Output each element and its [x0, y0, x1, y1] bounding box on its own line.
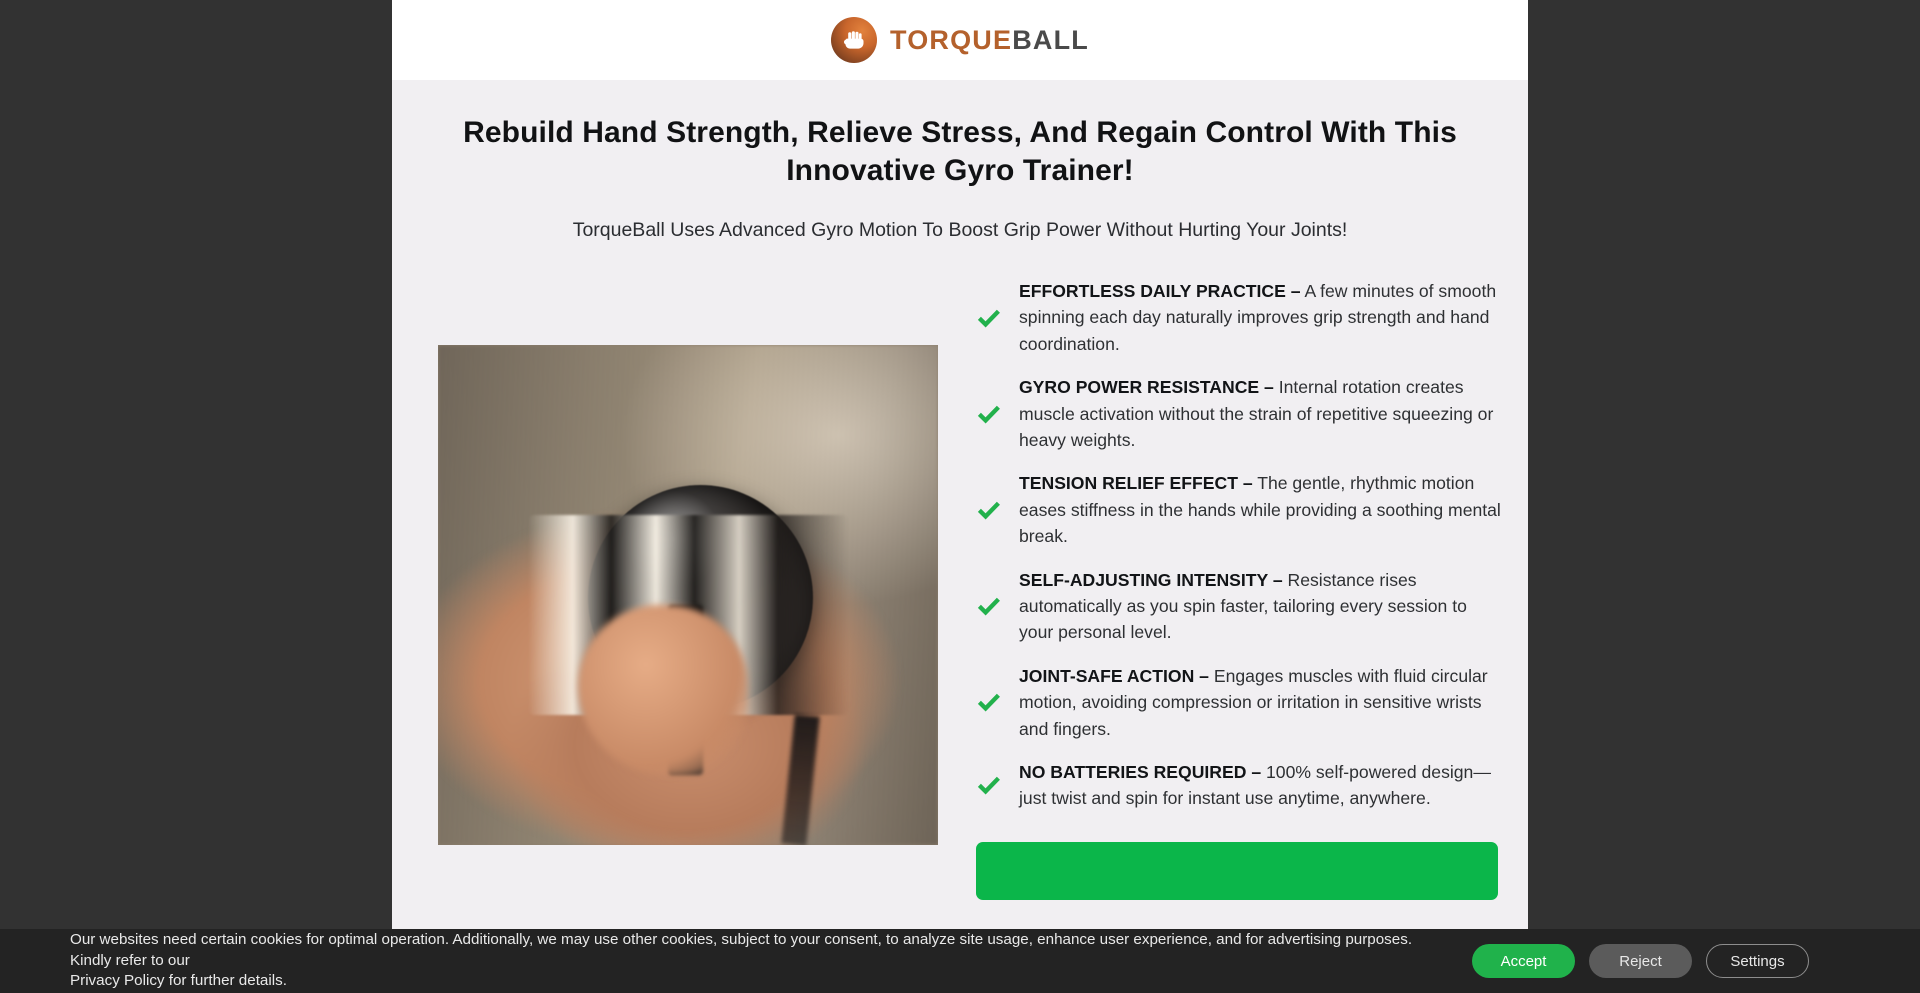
benefit-list: EFFORTLESS DAILY PRACTICE – A few minute…	[976, 278, 1502, 812]
check-icon	[976, 772, 1002, 798]
page-content-column: TORQUEBALL Rebuild Hand Strength, Reliev…	[392, 0, 1528, 993]
benefit-text: SELF-ADJUSTING INTENSITY – Resistance ri…	[1019, 567, 1502, 646]
benefit-text: TENSION RELIEF EFFECT – The gentle, rhyt…	[1019, 470, 1502, 549]
brand-word-primary: TORQUE	[890, 25, 1012, 55]
list-item: JOINT-SAFE ACTION – Engages muscles with…	[976, 663, 1502, 742]
benefit-title: NO BATTERIES REQUIRED –	[1019, 762, 1261, 782]
product-image	[438, 345, 938, 845]
browser-viewport: TORQUEBALL Rebuild Hand Strength, Reliev…	[0, 0, 1920, 993]
page-subtitle: TorqueBall Uses Advanced Gyro Motion To …	[438, 217, 1482, 244]
benefit-text: NO BATTERIES REQUIRED – 100% self-powere…	[1019, 759, 1502, 812]
benefit-title: SELF-ADJUSTING INTENSITY –	[1019, 570, 1283, 590]
page-title: Rebuild Hand Strength, Relieve Stress, A…	[440, 114, 1480, 191]
cookie-text-line-1: Our websites need certain cookies for op…	[70, 931, 1412, 969]
product-media-column	[438, 278, 938, 845]
benefit-text: JOINT-SAFE ACTION – Engages muscles with…	[1019, 663, 1502, 742]
cookie-consent-banner: Our websites need certain cookies for op…	[0, 929, 1920, 993]
cookie-settings-button[interactable]: Settings	[1706, 944, 1809, 978]
benefit-text: GYRO POWER RESISTANCE – Internal rotatio…	[1019, 374, 1502, 453]
benefit-title: GYRO POWER RESISTANCE –	[1019, 377, 1274, 397]
brand-logo[interactable]: TORQUEBALL	[831, 17, 1089, 63]
primary-cta-button[interactable]	[976, 842, 1498, 900]
fist-icon	[831, 17, 877, 63]
check-icon	[976, 305, 1002, 331]
reject-cookies-button[interactable]: Reject	[1589, 944, 1692, 978]
check-icon	[976, 497, 1002, 523]
check-icon	[976, 401, 1002, 427]
benefit-title: JOINT-SAFE ACTION –	[1019, 666, 1209, 686]
list-item: NO BATTERIES REQUIRED – 100% self-powere…	[976, 759, 1502, 812]
benefit-title: EFFORTLESS DAILY PRACTICE –	[1019, 281, 1301, 301]
benefits-column: EFFORTLESS DAILY PRACTICE – A few minute…	[976, 278, 1502, 900]
benefit-text: EFFORTLESS DAILY PRACTICE – A few minute…	[1019, 278, 1502, 357]
list-item: EFFORTLESS DAILY PRACTICE – A few minute…	[976, 278, 1502, 357]
cookie-consent-actions: Accept Reject Settings	[1472, 944, 1809, 978]
cta-row	[976, 842, 1502, 900]
list-item: SELF-ADJUSTING INTENSITY – Resistance ri…	[976, 567, 1502, 646]
brand-wordmark: TORQUEBALL	[890, 27, 1089, 54]
hero-section: EFFORTLESS DAILY PRACTICE – A few minute…	[438, 278, 1482, 900]
cookie-text-line-2: Privacy Policy for further details.	[70, 971, 1450, 992]
brand-word-secondary: BALL	[1012, 25, 1089, 55]
main-content: Rebuild Hand Strength, Relieve Stress, A…	[392, 80, 1528, 900]
check-icon	[976, 689, 1002, 715]
cookie-consent-text: Our websites need certain cookies for op…	[70, 930, 1450, 993]
site-header: TORQUEBALL	[392, 0, 1528, 80]
list-item: GYRO POWER RESISTANCE – Internal rotatio…	[976, 374, 1502, 453]
benefit-title: TENSION RELIEF EFFECT –	[1019, 473, 1253, 493]
check-icon	[976, 593, 1002, 619]
accept-cookies-button[interactable]: Accept	[1472, 944, 1575, 978]
list-item: TENSION RELIEF EFFECT – The gentle, rhyt…	[976, 470, 1502, 549]
